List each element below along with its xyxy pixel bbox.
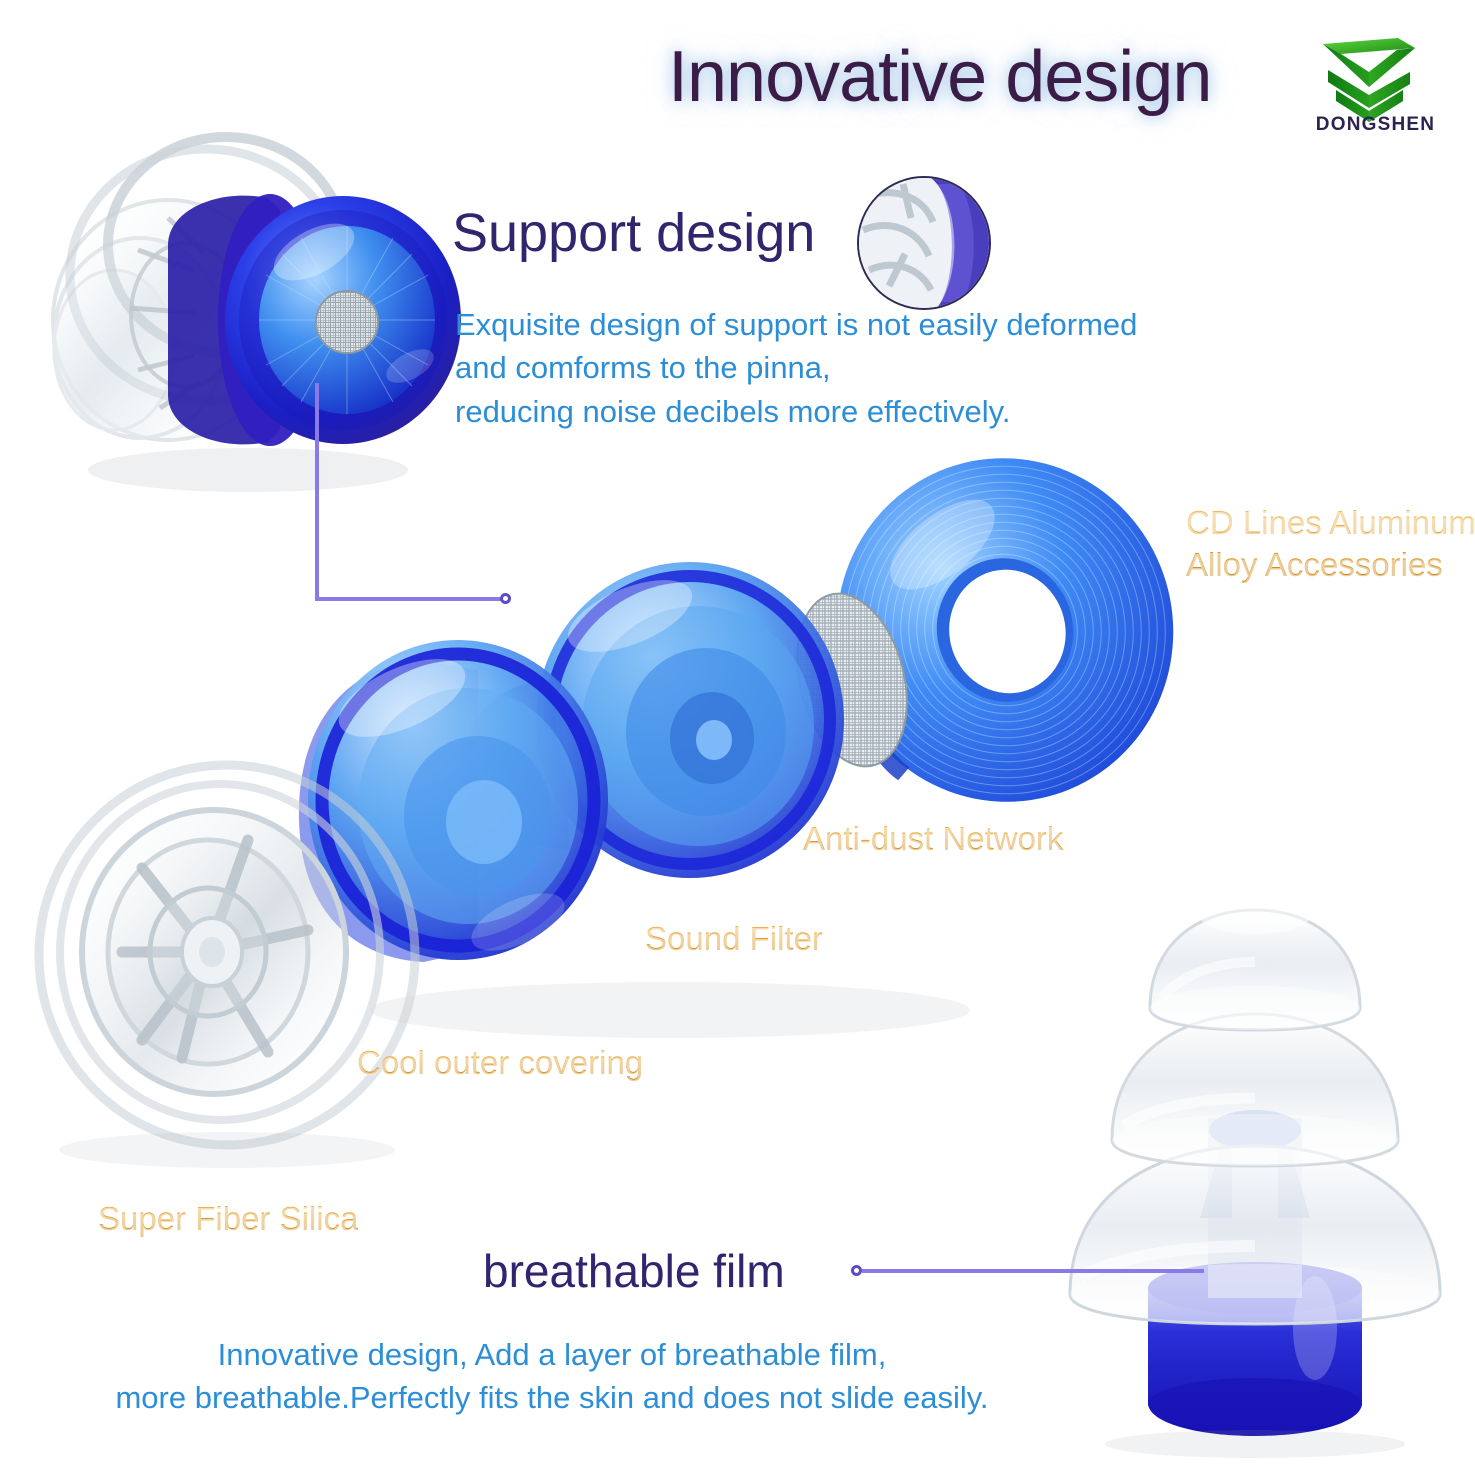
label-super-fiber-silica: Super Fiber Silica [98,1198,358,1240]
leader-dot-breathable [851,1265,862,1276]
support-line-1: Exquisite design of support is not easil… [455,303,1137,346]
support-line-2: and comforms to the pinna, [455,346,1137,389]
logo-wordmark: DONGSHEN [1303,114,1448,136]
label-cd-line-2: Alloy Accessories [1186,544,1475,586]
label-cd-lines-aluminum: CD Lines Aluminum Alloy Accessories [1186,502,1475,586]
page-title: Innovative design [668,36,1211,118]
support-line-3: reducing noise decibels more effectively… [455,390,1137,433]
label-sound-filter: Sound Filter [645,918,823,960]
support-detail-thumbnail [857,176,991,310]
breathable-film-heading: breathable film [483,1244,785,1298]
triple-flange-earplug-art [1050,858,1460,1458]
support-thumbnail-icon [859,178,989,308]
silica-support-art [22,740,442,1170]
infographic-canvas: Innovative design [0,0,1475,1475]
label-cd-line-1: CD Lines Aluminum [1186,502,1475,544]
support-description: Exquisite design of support is not easil… [455,303,1137,433]
label-cool-outer-covering: Cool outer covering [357,1042,643,1084]
support-design-heading: Support design [452,202,815,264]
film-line-2: more breathable.Perfectly fits the skin … [22,1376,1082,1419]
film-line-1: Innovative design, Add a layer of breath… [22,1333,1082,1376]
breathable-description: Innovative design, Add a layer of breath… [22,1333,1082,1420]
dongshen-logo: DONGSHEN [1303,32,1448,140]
label-anti-dust-network: Anti-dust Network [803,818,1063,860]
